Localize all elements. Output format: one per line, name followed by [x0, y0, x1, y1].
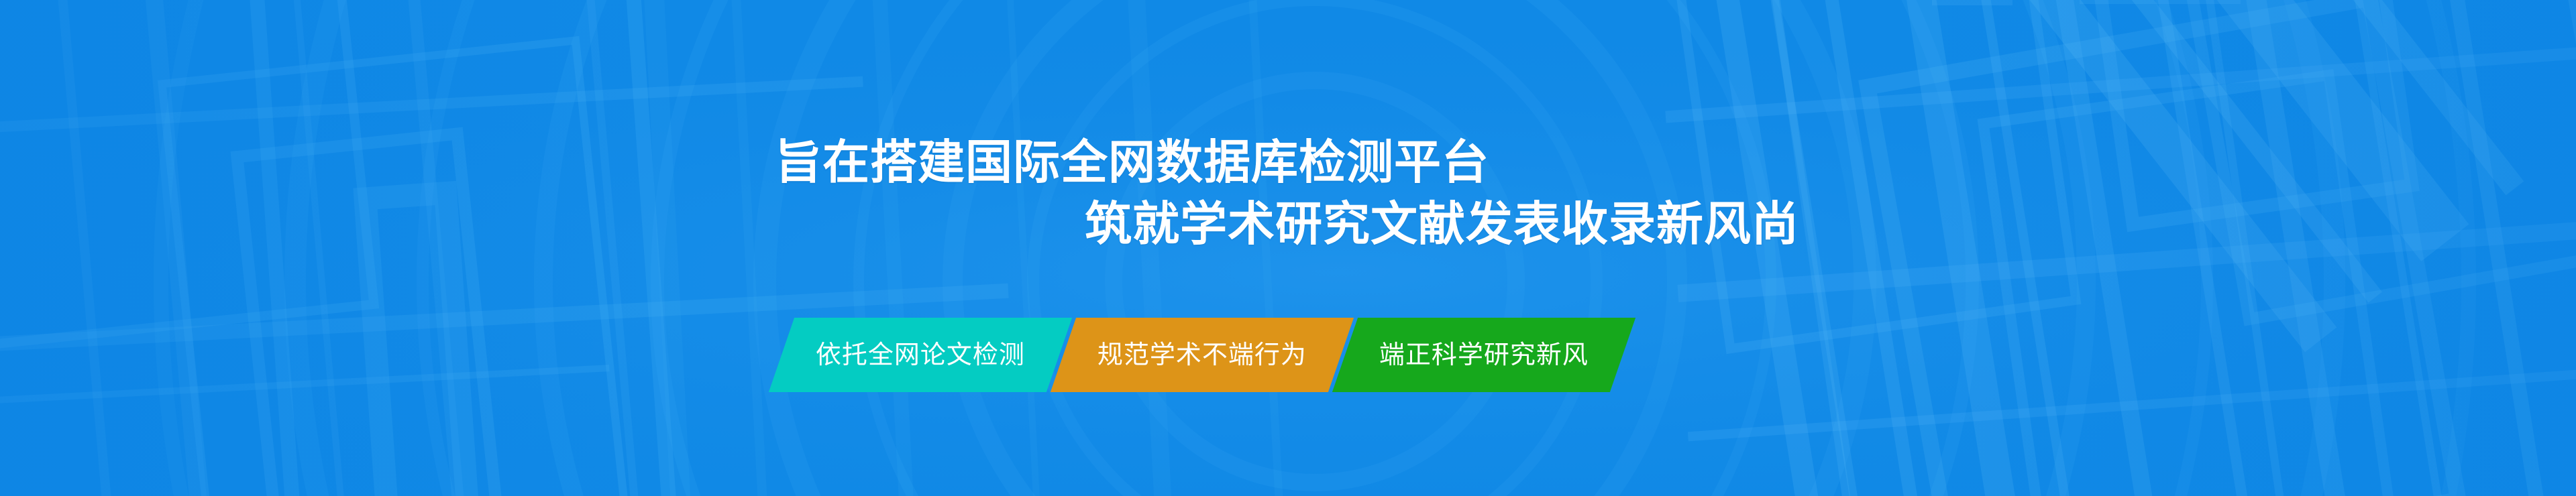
- feature-tab-label: 规范学术不端行为: [1097, 343, 1307, 368]
- feature-tab-label: 依托全网论文检测: [816, 343, 1025, 368]
- headline-line-1: 旨在搭建国际全网数据库检测平台: [0, 131, 2576, 193]
- feature-tab-label: 端正科学研究新风: [1379, 343, 1589, 368]
- feature-tab-academic-misconduct[interactable]: 规范学术不端行为: [1051, 318, 1354, 392]
- headline-block: 旨在搭建国际全网数据库检测平台 筑就学术研究文献发表收录新风尚: [0, 131, 2576, 255]
- headline-line-2: 筑就学术研究文献发表收录新风尚: [0, 193, 2576, 255]
- feature-tab-research-integrity[interactable]: 端正科学研究新风: [1332, 318, 1635, 392]
- feature-tab-plagiarism-detection[interactable]: 依托全网论文检测: [769, 318, 1072, 392]
- feature-tab-strip: 依托全网论文检测 规范学术不端行为 端正科学研究新风: [769, 318, 1635, 392]
- promo-banner: 旨在搭建国际全网数据库检测平台 筑就学术研究文献发表收录新风尚 依托全网论文检测…: [0, 0, 2576, 496]
